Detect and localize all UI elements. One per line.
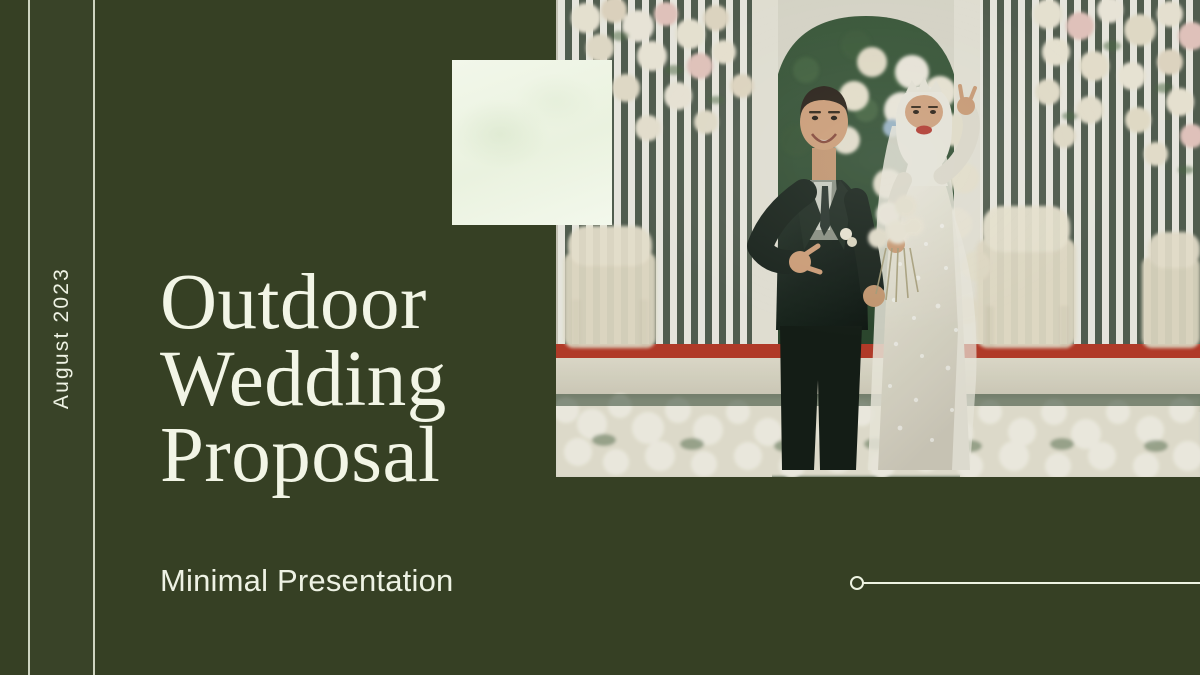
page-subtitle: Minimal Presentation — [160, 563, 453, 599]
left-accent-band — [30, 0, 93, 675]
circle-marker-icon — [850, 576, 864, 590]
page-title-line-1: Outdoor — [160, 265, 560, 342]
vertical-rule-inner — [93, 0, 95, 675]
wedding-photo-illustration — [556, 0, 1200, 477]
accent-square — [452, 60, 612, 225]
page-title-line-2: Wedding — [160, 342, 560, 419]
page-title: Outdoor Wedding Proposal — [160, 265, 560, 495]
vertical-rule-outer — [28, 0, 30, 675]
horizontal-rule-line — [863, 582, 1200, 584]
decorative-rule — [850, 575, 1200, 591]
wedding-photo — [556, 0, 1200, 477]
slide-canvas: August 2023 Outdoor Wedding Proposal Min… — [0, 0, 1200, 675]
page-title-line-3: Proposal — [160, 418, 560, 495]
